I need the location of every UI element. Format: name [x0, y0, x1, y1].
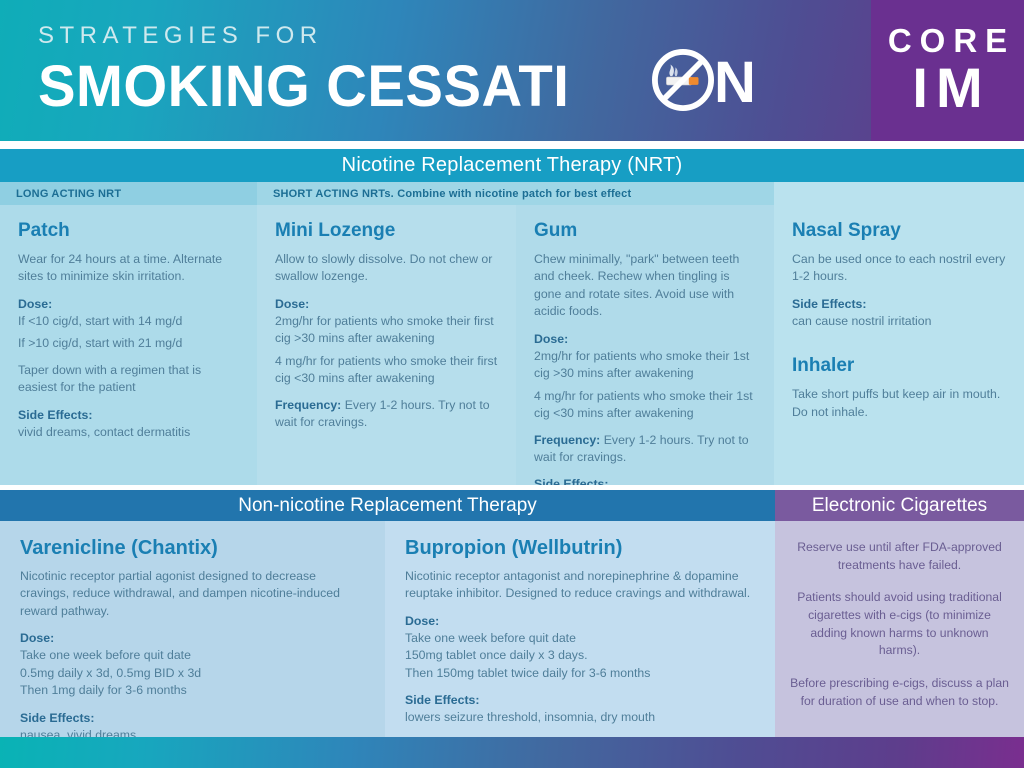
card-gum-title: Gum: [534, 221, 756, 242]
section-header-nonnrt: Non-nicotine Replacement Therapy: [0, 490, 775, 521]
card-bupropion-dose-line-1: Take one week before quit date: [405, 630, 755, 647]
card-mini-lozenge-title: Mini Lozenge: [275, 221, 498, 242]
subband-filler: [774, 182, 1024, 205]
card-patch-extra: Taper down with a regimen that is easies…: [18, 362, 239, 397]
card-gum-frequency: Frequency: Every 1-2 hours. Try not to w…: [534, 432, 756, 467]
card-mini-lozenge-freq-label: Frequency:: [275, 398, 341, 412]
card-varenicline-intro: Nicotinic receptor partial agonist desig…: [20, 568, 365, 620]
nrt-columns: Patch Wear for 24 hours at a time. Alter…: [0, 205, 1024, 485]
card-patch-dose-line-2: If >10 cig/d, start with 21 mg/d: [18, 335, 239, 352]
footer-gradient-bar: [0, 737, 1024, 768]
card-nasal-spray: Nasal Spray Can be used once to each nos…: [774, 205, 1024, 485]
card-varenicline: Varenicline (Chantix) Nicotinic receptor…: [0, 521, 385, 737]
card-ecig-paragraph-3: Before prescribing e-cigs, discuss a pla…: [789, 675, 1010, 710]
subband-short-acting-label: SHORT ACTING NRTs. Combine with nicotine…: [257, 188, 631, 200]
page-title-tail: N: [714, 54, 756, 112]
masthead: STRATEGIES FOR SMOKING CESSATI N CORE IM: [0, 0, 1024, 141]
logo-line-core: CORE: [880, 24, 1015, 57]
card-varenicline-dose-line-1: Take one week before quit date: [20, 647, 365, 664]
card-gum-dose-label: Dose:: [534, 332, 568, 346]
card-mini-lozenge: Mini Lozenge Allow to slowly dissolve. D…: [257, 205, 516, 485]
card-gum-dose-line-2: 4 mg/hr for patients who smoke their 1st…: [534, 388, 756, 423]
card-inhaler-intro: Take short puffs but keep air in mouth. …: [792, 386, 1006, 421]
card-nasal-spray-side-text: can cause nostril irritation: [792, 313, 1006, 330]
subband-long-acting: LONG ACTING NRT: [0, 182, 257, 205]
section-header-ecig-label: Electronic Cigarettes: [812, 495, 987, 517]
card-varenicline-dose-line-2: 0.5mg daily x 3d, 0.5mg BID x 3d: [20, 665, 365, 682]
card-gum: Gum Chew minimally, "park" between teeth…: [516, 205, 774, 485]
section-header-nonnrt-label: Non-nicotine Replacement Therapy: [238, 495, 537, 517]
card-mini-lozenge-dose-label: Dose:: [275, 297, 309, 311]
coreim-logo: CORE IM: [871, 0, 1024, 141]
card-patch-side-text: vivid dreams, contact dermatitis: [18, 424, 239, 441]
card-patch-dose-label: Dose:: [18, 297, 52, 311]
card-patch-intro: Wear for 24 hours at a time. Alternate s…: [18, 251, 239, 286]
card-patch-dose-line-1: If <10 cig/d, start with 14 mg/d: [18, 313, 239, 330]
page-title: SMOKING CESSATI: [38, 58, 569, 116]
card-patch-dose: Dose: If <10 cig/d, start with 14 mg/d: [18, 295, 239, 330]
section-header-ecig: Electronic Cigarettes: [775, 490, 1024, 521]
card-electronic-cigarettes: Reserve use until after FDA-approved tre…: [775, 521, 1024, 737]
card-bupropion-side-label: Side Effects:: [405, 693, 479, 707]
card-varenicline-dose-label: Dose:: [20, 631, 54, 645]
masthead-text: STRATEGIES FOR SMOKING CESSATI: [38, 24, 586, 116]
infographic-page: STRATEGIES FOR SMOKING CESSATI N CORE IM…: [0, 0, 1024, 768]
card-varenicline-title: Varenicline (Chantix): [20, 537, 365, 559]
subband-long-acting-label: LONG ACTING NRT: [0, 188, 121, 200]
card-nasal-spray-title: Nasal Spray: [792, 221, 1006, 242]
card-gum-dose: Dose: 2mg/hr for patients who smoke thei…: [534, 330, 756, 383]
card-nasal-spray-intro: Can be used once to each nostril every 1…: [792, 251, 1006, 286]
card-varenicline-dose: Dose: Take one week before quit date 0.5…: [20, 629, 365, 699]
no-smoking-icon: [652, 49, 714, 111]
nonnrt-columns: Varenicline (Chantix) Nicotinic receptor…: [0, 521, 1024, 737]
card-mini-lozenge-dose-line-2: 4 mg/hr for patients who smoke their fir…: [275, 353, 498, 388]
section-header-nrt-label: Nicotine Replacement Therapy (NRT): [342, 154, 683, 177]
card-bupropion-intro: Nicotinic receptor antagonist and norepi…: [405, 568, 755, 603]
card-gum-intro: Chew minimally, "park" between teeth and…: [534, 251, 756, 321]
card-patch-title: Patch: [18, 221, 239, 242]
card-mini-lozenge-dose: Dose: 2mg/hr for patients who smoke thei…: [275, 295, 498, 348]
card-mini-lozenge-frequency: Frequency: Every 1-2 hours. Try not to w…: [275, 397, 498, 432]
card-mini-lozenge-dose-line-1: 2mg/hr for patients who smoke their firs…: [275, 313, 498, 348]
inhaler-spacer: [792, 330, 1006, 356]
card-patch-side-effects: Side Effects: vivid dreams, contact derm…: [18, 406, 239, 441]
card-ecig-paragraph-2: Patients should avoid using traditional …: [789, 589, 1010, 660]
card-patch: Patch Wear for 24 hours at a time. Alter…: [0, 205, 257, 485]
card-patch-side-label: Side Effects:: [18, 408, 92, 422]
section-header-nrt: Nicotine Replacement Therapy (NRT): [0, 149, 1024, 182]
card-bupropion-dose-label: Dose:: [405, 614, 439, 628]
kicker-text: STRATEGIES FOR: [38, 24, 586, 48]
logo-line-im: IM: [904, 59, 990, 116]
card-bupropion-title: Bupropion (Wellbutrin): [405, 537, 755, 559]
card-bupropion-dose: Dose: Take one week before quit date 150…: [405, 612, 755, 682]
subband-short-acting: SHORT ACTING NRTs. Combine with nicotine…: [257, 182, 774, 205]
card-varenicline-side-label: Side Effects:: [20, 711, 94, 725]
card-bupropion-side-text: lowers seizure threshold, insomnia, dry …: [405, 709, 755, 726]
card-mini-lozenge-intro: Allow to slowly dissolve. Do not chew or…: [275, 251, 498, 286]
card-bupropion: Bupropion (Wellbutrin) Nicotinic recepto…: [385, 521, 775, 737]
card-bupropion-side-effects: Side Effects: lowers seizure threshold, …: [405, 691, 755, 726]
card-bupropion-dose-line-2: 150mg tablet once daily x 3 days.: [405, 647, 755, 664]
card-nasal-spray-side-effects: Side Effects: can cause nostril irritati…: [792, 295, 1006, 330]
card-nasal-spray-side-label: Side Effects:: [792, 297, 866, 311]
card-gum-freq-label: Frequency:: [534, 433, 600, 447]
card-inhaler-title: Inhaler: [792, 356, 1006, 377]
card-gum-dose-line-1: 2mg/hr for patients who smoke their 1st …: [534, 348, 756, 383]
card-varenicline-dose-line-3: Then 1mg daily for 3-6 months: [20, 682, 365, 699]
card-ecig-paragraph-1: Reserve use until after FDA-approved tre…: [789, 539, 1010, 574]
card-bupropion-dose-line-3: Then 150mg tablet twice daily for 3-6 mo…: [405, 665, 755, 682]
